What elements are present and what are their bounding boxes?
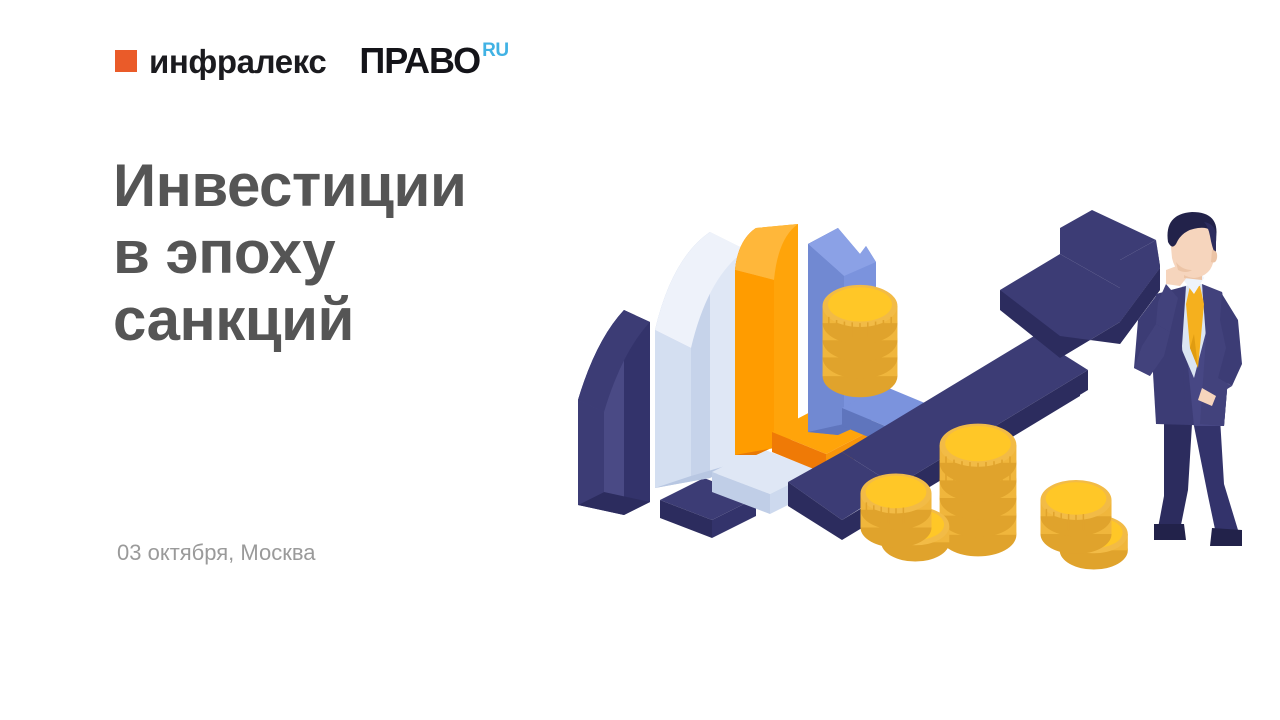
page-title-line-3: санкций bbox=[113, 286, 583, 353]
logo-row: инфралекс ПРАВО RU bbox=[115, 43, 509, 79]
logo-infralex[interactable]: инфралекс bbox=[115, 45, 326, 78]
date-location-label: 03 октября, Москва bbox=[117, 540, 316, 566]
infralex-square-icon bbox=[115, 50, 137, 72]
bar-3 bbox=[735, 224, 798, 455]
page-title-line-2: в эпоху bbox=[113, 219, 583, 286]
coin-stack-right bbox=[1040, 480, 1127, 570]
page-title-line-1: Инвестиции bbox=[113, 152, 583, 219]
investment-illustration bbox=[560, 210, 1260, 570]
coin-stack-left bbox=[860, 474, 949, 562]
bar-1 bbox=[578, 310, 650, 515]
bar-2 bbox=[655, 232, 746, 488]
logo-infralex-label: инфралекс bbox=[149, 45, 326, 78]
logo-pravo[interactable]: ПРАВО RU bbox=[359, 43, 508, 79]
coin-stack-center bbox=[940, 424, 1017, 557]
logo-pravo-label: ПРАВО bbox=[359, 43, 480, 79]
page-title: Инвестиции в эпоху санкций bbox=[113, 152, 583, 354]
logo-pravo-ru-label: RU bbox=[482, 41, 508, 60]
slide-root: инфралекс ПРАВО RU Инвестиции в эпоху са… bbox=[0, 0, 1280, 720]
coin-stack-upper bbox=[823, 285, 898, 397]
